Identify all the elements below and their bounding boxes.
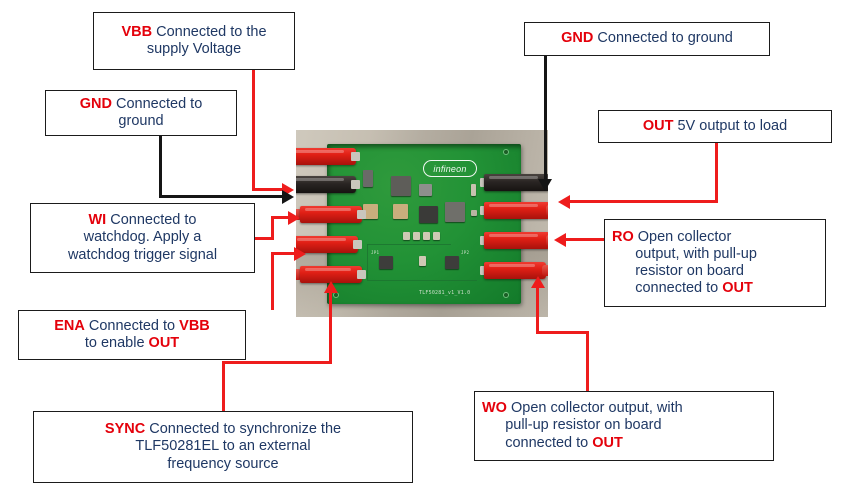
component-ic-small [419, 184, 432, 196]
jumper-jp2 [445, 256, 459, 269]
callout-ena-line-1: ENA Connected to VBB [26, 318, 238, 335]
pcb-trace [367, 280, 477, 281]
component-inductor-2 [445, 202, 465, 222]
wi-connector [300, 206, 362, 223]
gnd-left-arrow [282, 190, 294, 204]
callout-wo-line-2: pull-up resistor on board [482, 417, 766, 434]
ena-arrow [294, 247, 306, 261]
silkscreen-jp1: JP1 [371, 250, 379, 255]
wi-arrow [288, 211, 300, 225]
vbb-wire-vertical [252, 70, 255, 191]
wo-wire-vertical-2 [536, 285, 539, 333]
pcb-trace [367, 244, 368, 280]
connector-tail [542, 265, 548, 276]
callout-ro-line-3: resistor on board [612, 263, 818, 280]
component-resistor [423, 232, 430, 240]
gnd-right-wire-vertical [544, 56, 547, 183]
component-resistor [413, 232, 420, 240]
callout-ena[interactable]: ENA Connected to VBB to enable OUT [18, 310, 246, 360]
callout-ro-line-2: output, with pull-up [612, 246, 818, 263]
component-capacitor [393, 204, 408, 219]
mounting-hole [503, 292, 509, 298]
callout-wi-line-3: watchdog trigger signal [38, 247, 247, 264]
callout-wi[interactable]: WI Connected to watchdog. Apply a watchd… [30, 203, 255, 273]
gnd-left-wire-vertical [159, 136, 162, 198]
wi-wire-vertical [271, 216, 274, 240]
callout-out-line-1: OUT 5V output to load [606, 118, 824, 135]
connector-body [296, 176, 356, 193]
callout-gnd-left-line-2: ground [53, 113, 229, 130]
pcb-trace [367, 244, 451, 245]
vbb-connector [296, 148, 356, 165]
connector-tip [351, 152, 360, 161]
mounting-hole [503, 149, 509, 155]
wo-arrow [531, 276, 545, 288]
callout-vbb-line-1: VBB Connected to the [101, 24, 287, 41]
component-resistor [433, 232, 440, 240]
infineon-logo: infineon [423, 160, 477, 177]
callout-vbb[interactable]: VBB Connected to the supply Voltage [93, 12, 295, 70]
callout-vbb-line-2: supply Voltage [101, 41, 287, 58]
component-ic-main [419, 206, 438, 223]
connector-tip [357, 270, 366, 279]
callout-out[interactable]: OUT 5V output to load [598, 110, 832, 143]
connector-tip [357, 210, 366, 219]
connector-tip [353, 240, 362, 249]
component-resistor [471, 210, 477, 216]
connector-body [296, 148, 356, 165]
connector-tail [546, 205, 548, 216]
connector-body [300, 206, 362, 223]
jumper-jp1 [379, 256, 393, 269]
connector-body [484, 232, 548, 249]
sync-wire-vertical-1 [222, 361, 225, 411]
callout-ro-line-4: connected to OUT [612, 280, 818, 297]
callout-sync-line-2: TLF50281EL to an external [41, 438, 405, 455]
silkscreen-board-id: TLF50281_v1_V1.0 [419, 290, 470, 296]
component-resistor [471, 184, 476, 196]
callout-ro-line-1: RO Open collector [612, 229, 818, 246]
component-resistor [419, 256, 426, 266]
gnd-left-connector [296, 176, 356, 193]
wo-wire-vertical-1 [586, 331, 589, 391]
callout-wi-line-2: watchdog. Apply a [38, 229, 247, 246]
callout-wo-line-3: connected to OUT [482, 435, 766, 452]
callout-wo-line-1: WO Open collector output, with [482, 400, 766, 417]
out-wire-horizontal [570, 200, 718, 203]
callout-gnd-left[interactable]: GND Connected to ground [45, 90, 237, 136]
callout-wo[interactable]: WO Open collector output, with pull-up r… [474, 391, 774, 461]
callout-sync-line-3: frequency source [41, 456, 405, 473]
callout-gnd-left-line-1: GND Connected to [53, 96, 229, 113]
vbb-wire-horizontal [252, 188, 284, 191]
callout-gnd-right-line-1: GND Connected to ground [532, 30, 762, 47]
component-diode [363, 170, 373, 187]
sync-arrow [324, 281, 338, 293]
ro-arrow [554, 233, 566, 247]
out-connector [484, 202, 548, 219]
sync-wire-vertical-2 [329, 290, 332, 362]
callout-gnd-right[interactable]: GND Connected to ground [524, 22, 770, 56]
diagram-canvas: infineon JP1 JP2 TLF50281_v1_V1.0 [0, 0, 850, 499]
gnd-left-wire-horizontal [159, 195, 284, 198]
silkscreen-jp2: JP2 [461, 250, 469, 255]
callout-ena-line-2: to enable OUT [26, 335, 238, 352]
sync-wire-horizontal [222, 361, 332, 364]
callout-ro[interactable]: RO Open collector output, with pull-up r… [604, 219, 826, 307]
callout-sync-line-1: SYNC Connected to synchronize the [41, 421, 405, 438]
connector-body [484, 202, 548, 219]
component-inductor [391, 176, 411, 196]
callout-wi-line-1: WI Connected to [38, 212, 247, 229]
callout-sync[interactable]: SYNC Connected to synchronize the TLF502… [33, 411, 413, 483]
connector-tip [351, 180, 360, 189]
connector-tail [546, 235, 548, 246]
ro-connector [484, 232, 548, 249]
out-arrow [558, 195, 570, 209]
wo-wire-horizontal [536, 331, 589, 334]
ena-wire-vertical [271, 252, 274, 310]
gnd-right-arrow [538, 179, 552, 191]
out-wire-vertical [715, 142, 718, 203]
component-resistor [403, 232, 410, 240]
ro-wire-horizontal [566, 238, 604, 241]
